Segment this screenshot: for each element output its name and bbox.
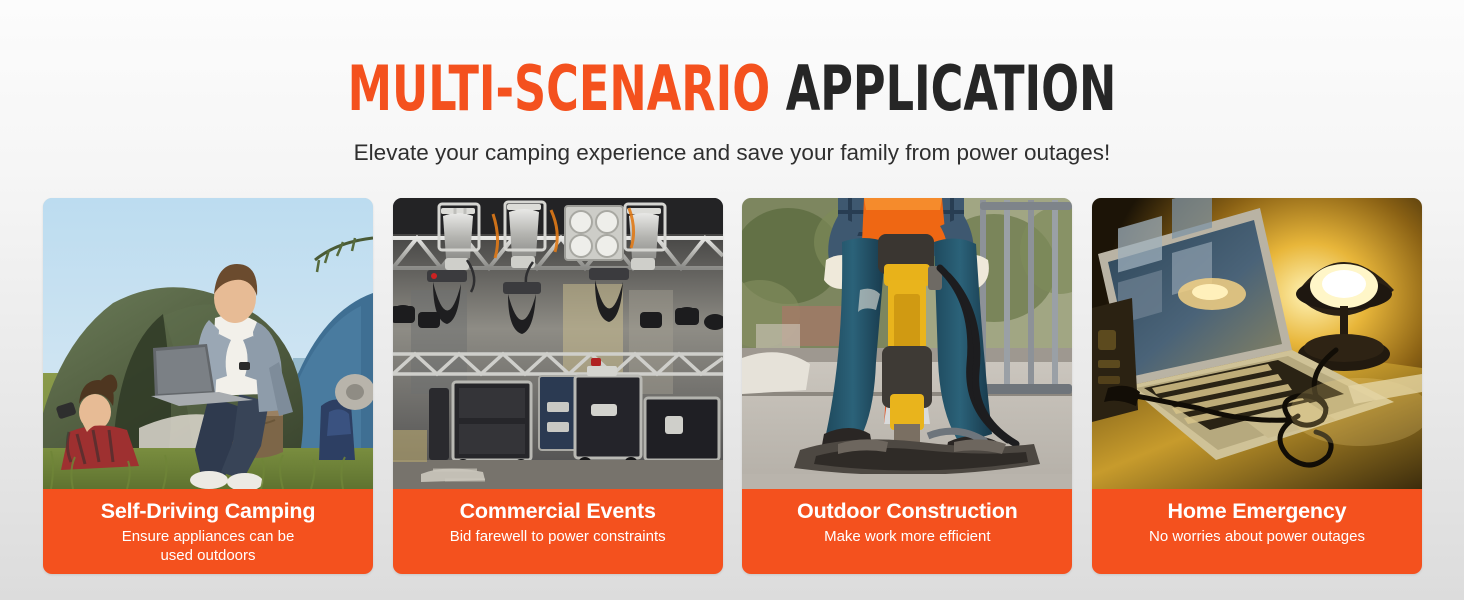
page-header: MULTI-SCENARIO APPLICATION Elevate your … [0,0,1464,166]
card-caption: Self-Driving Camping Ensure appliances c… [43,489,373,574]
scenario-card-list: Self-Driving Camping Ensure appliances c… [43,198,1422,574]
card-caption: Home Emergency No worries about power ou… [1092,489,1422,574]
page-subtitle: Elevate your camping experience and save… [0,140,1464,166]
scenario-card-self-driving-camping[interactable]: Self-Driving Camping Ensure appliances c… [43,198,373,574]
card-subtitle-line1: Ensure appliances can be [122,528,295,545]
card-title: Outdoor Construction [797,498,1018,524]
card-subtitle: Make work more efficient [824,527,990,546]
card-caption: Commercial Events Bid farewell to power … [393,489,723,574]
stage-lighting-photo [393,198,723,489]
jackhammer-photo [742,198,1072,489]
page-title-highlight: MULTI-SCENARIO [348,52,771,125]
card-subtitle: No worries about power outages [1149,527,1365,546]
card-caption: Outdoor Construction Make work more effi… [742,489,1072,574]
card-subtitle: Ensure appliances can be used outdoors [122,527,295,565]
card-subtitle: Bid farewell to power constraints [450,527,666,546]
page-title-rest: APPLICATION [786,52,1117,125]
camping-photo [43,198,373,489]
scenario-card-outdoor-construction[interactable]: Outdoor Construction Make work more effi… [742,198,1072,574]
card-subtitle-line2: used outdoors [160,547,255,564]
laptop-lamp-photo [1092,198,1422,489]
card-title: Home Emergency [1168,498,1347,524]
page-title: MULTI-SCENARIO APPLICATION [146,58,1317,120]
card-title: Commercial Events [460,498,656,524]
scenario-card-home-emergency[interactable]: Home Emergency No worries about power ou… [1092,198,1422,574]
scenario-card-commercial-events[interactable]: Commercial Events Bid farewell to power … [393,198,723,574]
card-title: Self-Driving Camping [101,498,316,524]
